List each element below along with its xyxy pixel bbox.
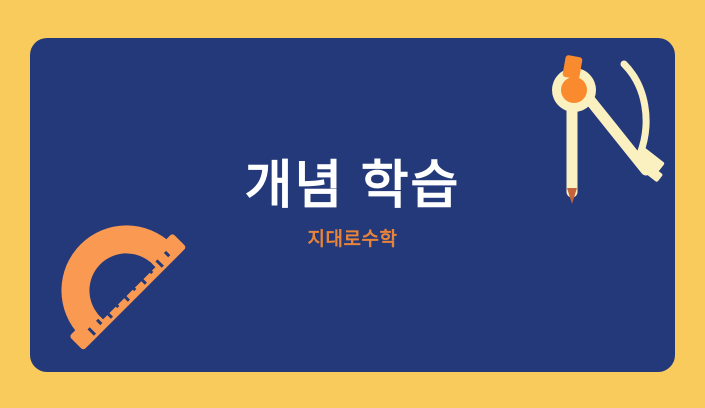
title-card: 개념 학습 지대로수학: [30, 38, 675, 372]
page-title: 개념 학습: [245, 159, 461, 214]
page-subtitle: 지대로수학: [308, 224, 398, 251]
slide-canvas: 개념 학습 지대로수학: [0, 0, 705, 408]
protractor-icon: [30, 192, 198, 362]
compass-icon: [528, 42, 675, 224]
